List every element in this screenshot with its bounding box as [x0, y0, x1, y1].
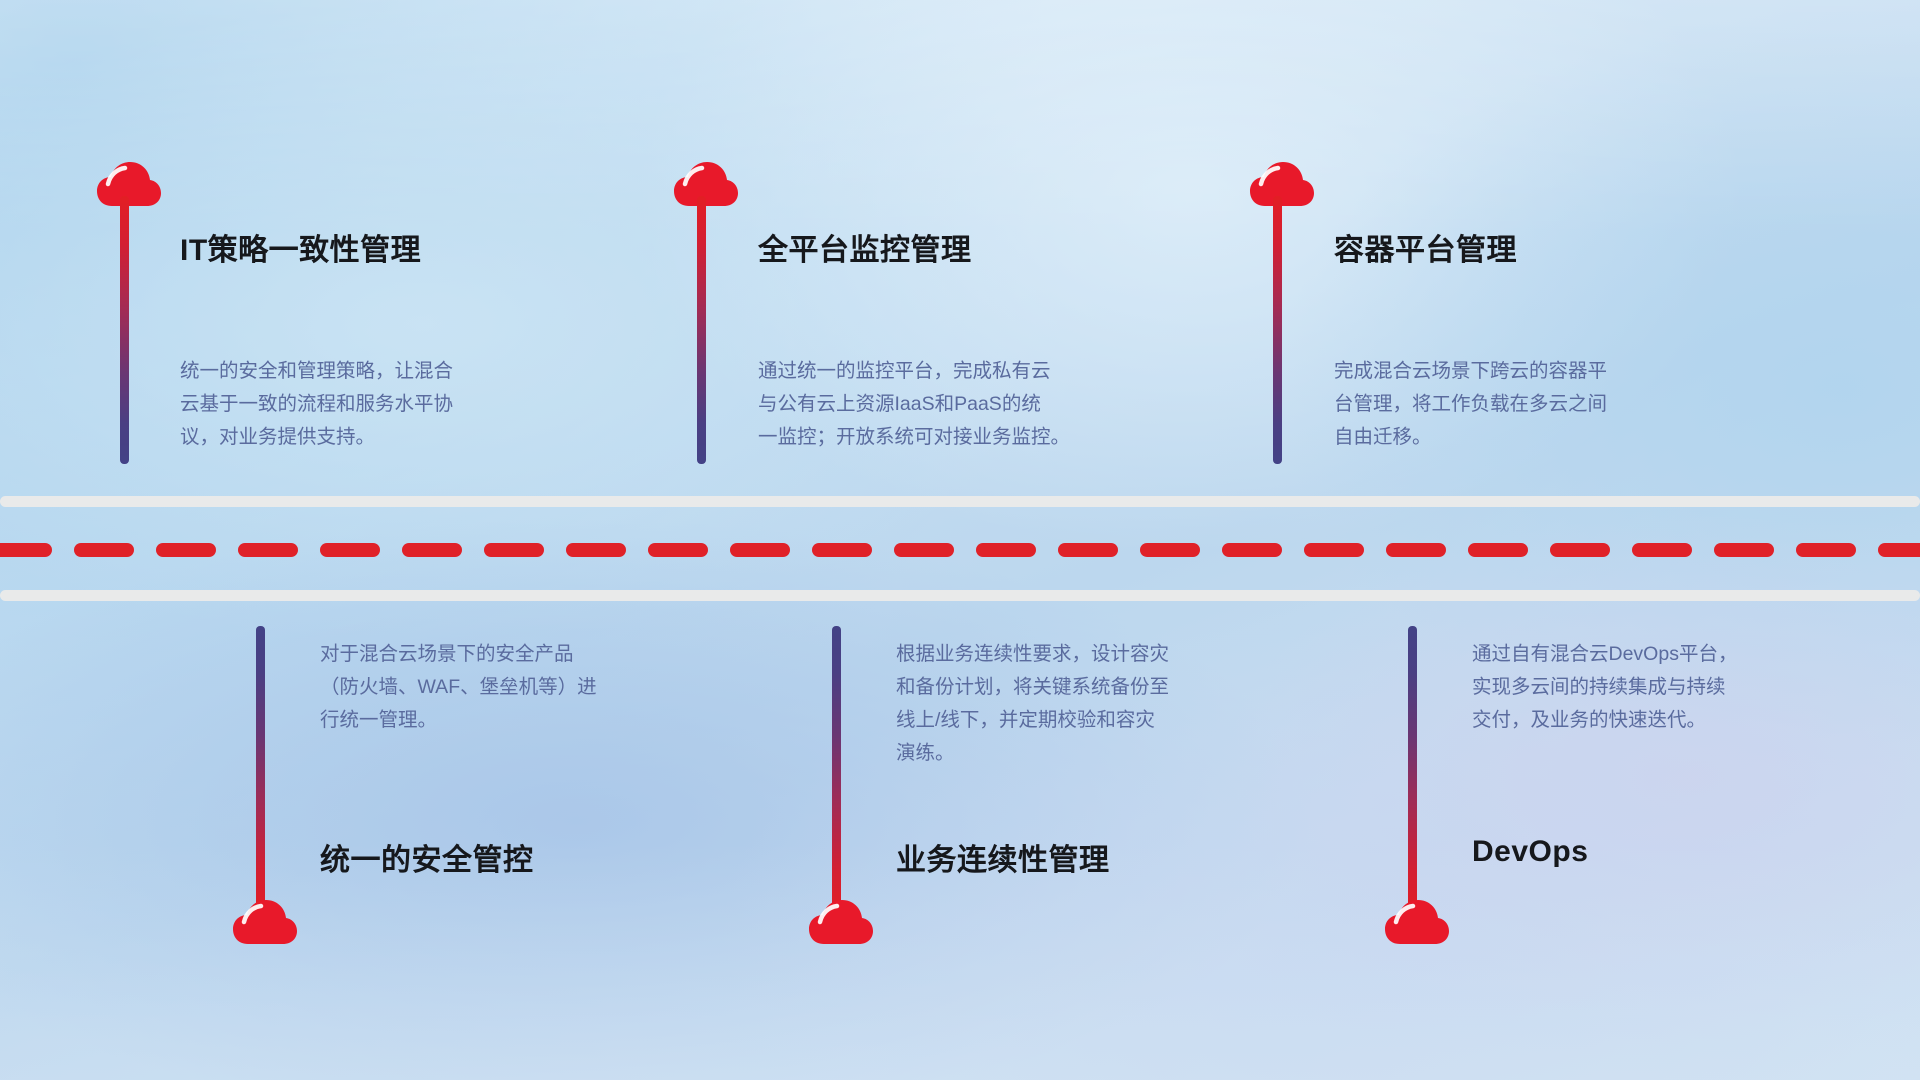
- divider-dash: [812, 543, 872, 557]
- item-description: 统一的安全和管理策略，让混合 云基于一致的流程和服务水平协 议，对业务提供支持。: [180, 355, 620, 454]
- item-description: 对于混合云场景下的安全产品 （防火墙、WAF、堡垒机等）进 行统一管理。: [320, 638, 740, 737]
- divider-dash: [894, 543, 954, 557]
- infographic-canvas: IT策略一致性管理 统一的安全和管理策略，让混合 云基于一致的流程和服务水平协 …: [0, 0, 1920, 1080]
- connector-stem: [120, 196, 129, 464]
- divider-dash: [648, 543, 708, 557]
- divider-dash: [1878, 543, 1920, 557]
- item-title: 统一的安全管控: [320, 835, 534, 879]
- divider-dash: [238, 543, 298, 557]
- divider-rule-bottom: [0, 590, 1920, 601]
- item-title: 业务连续性管理: [896, 835, 1110, 879]
- divider-dash: [320, 543, 380, 557]
- connector-stem: [697, 196, 706, 464]
- divider-dash: [1058, 543, 1118, 557]
- cloud-icon: [96, 160, 162, 208]
- divider-dash: [976, 543, 1036, 557]
- connector-stem: [832, 626, 841, 916]
- divider-dash: [484, 543, 544, 557]
- connector-stem: [1273, 196, 1282, 464]
- item-description: 完成混合云场景下跨云的容器平 台管理，将工作负载在多云之间 自由迁移。: [1334, 355, 1774, 454]
- divider-rule-top: [0, 496, 1920, 507]
- divider-dash: [1222, 543, 1282, 557]
- divider-dash: [0, 543, 52, 557]
- cloud-icon: [1384, 898, 1450, 946]
- divider-dash: [402, 543, 462, 557]
- divider-dash: [730, 543, 790, 557]
- item-title: DevOps: [1472, 835, 1588, 869]
- connector-stem: [256, 626, 265, 916]
- divider-dash: [566, 543, 626, 557]
- item-title: 容器平台管理: [1334, 225, 1517, 269]
- divider-dash: [1796, 543, 1856, 557]
- divider-dash: [1632, 543, 1692, 557]
- divider-dash: [74, 543, 134, 557]
- divider-dash: [1468, 543, 1528, 557]
- cloud-icon: [673, 160, 739, 208]
- divider-dash: [1714, 543, 1774, 557]
- cloud-icon: [1249, 160, 1315, 208]
- item-title: 全平台监控管理: [758, 225, 972, 269]
- divider-dash: [1550, 543, 1610, 557]
- item-description: 根据业务连续性要求，设计容灾 和备份计划，将关键系统备份至 线上/线下，并定期校…: [896, 638, 1326, 770]
- connector-stem: [1408, 626, 1417, 916]
- divider-dash: [1304, 543, 1364, 557]
- item-description: 通过统一的监控平台，完成私有云 与公有云上资源IaaS和PaaS的统 一监控；开…: [758, 355, 1218, 454]
- cloud-icon: [808, 898, 874, 946]
- divider-dash: [156, 543, 216, 557]
- divider-dash: [1140, 543, 1200, 557]
- divider-dashed-line: [0, 543, 1920, 557]
- divider-dash: [1386, 543, 1446, 557]
- cloud-icon: [232, 898, 298, 946]
- item-description: 通过自有混合云DevOps平台， 实现多云间的持续集成与持续 交付，及业务的快速…: [1472, 638, 1892, 737]
- item-title: IT策略一致性管理: [180, 225, 421, 269]
